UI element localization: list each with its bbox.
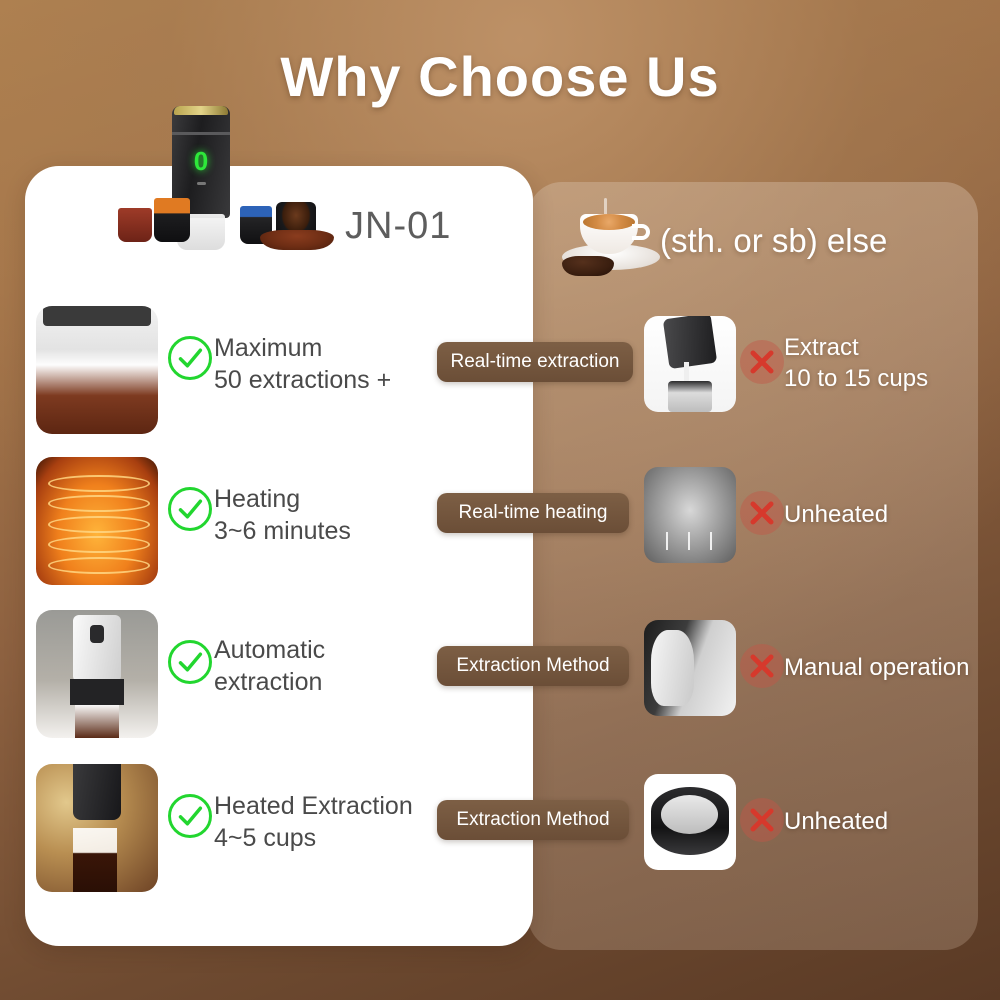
heating-coil (48, 495, 150, 512)
thumb-shape (651, 630, 693, 707)
coffee-glass (75, 705, 119, 738)
filter-basket-image (644, 774, 736, 870)
heating-coil (48, 536, 150, 553)
cup-handle (632, 224, 650, 240)
coffee-extraction-cup-image (36, 306, 158, 434)
heating-coils-image (36, 457, 158, 585)
ground-coffee-pile-icon (260, 230, 334, 250)
left-feature-line1: Maximum (214, 334, 322, 362)
basket-inner (661, 795, 718, 833)
comparison-category-pill: Real-time heating (437, 493, 629, 533)
cross-icon (740, 798, 784, 842)
capsule-red-icon (118, 208, 152, 242)
receiving-cup (668, 381, 712, 412)
heating-coil (48, 516, 150, 533)
device-screen (90, 625, 105, 643)
comparison-category-pill: Extraction Method (437, 800, 629, 840)
press-pot (663, 316, 717, 369)
check-icon (168, 336, 212, 380)
right-feature-text: Extract10 to 15 cups (784, 332, 1000, 394)
left-feature-line2: extraction (214, 666, 464, 698)
cross-icon (740, 340, 784, 384)
right-feature-text: Unheated (784, 499, 1000, 530)
heated-extraction-pour-image (36, 764, 158, 892)
comparison-category-pill: Extraction Method (437, 646, 629, 686)
check-icon (168, 794, 212, 838)
hand-pressing-thumb-image (644, 620, 736, 716)
machine-ring (172, 132, 230, 135)
machine-display: 0 (172, 146, 230, 177)
device-collar (70, 679, 124, 705)
right-feature-text: Manual operation (784, 652, 1000, 683)
coffee-beans-icon (562, 256, 614, 276)
cross-icon (740, 491, 784, 535)
heating-coil (48, 557, 150, 574)
infographic-canvas: Why Choose Us 0 JN-01 (sth. or sb) else … (0, 0, 1000, 1000)
latte-cup-icon (556, 198, 666, 278)
check-icon (168, 640, 212, 684)
right-feature-line1: Extract (784, 334, 859, 361)
automatic-machine-brewing-image (36, 610, 158, 738)
left-feature-text: Maximum50 extractions + (214, 332, 464, 396)
comparison-row: Heated Extraction4~5 cupsExtraction Meth… (0, 762, 1000, 912)
left-feature-text: Automaticextraction (214, 634, 464, 698)
right-feature-line1: Unheated (784, 808, 888, 835)
right-feature-line2: 10 to 15 cups (784, 365, 928, 392)
comparison-row: Maximum50 extractions +Real-time extract… (0, 304, 1000, 454)
pour-stream (684, 362, 689, 383)
cross-icon (740, 644, 784, 688)
cup-lid (43, 306, 150, 326)
left-feature-text: Heating3~6 minutes (214, 483, 464, 547)
heating-coil (48, 475, 150, 492)
flow-arrow (710, 532, 712, 549)
brew-head (73, 764, 122, 820)
cold-brew-container-image (644, 467, 736, 563)
check-icon (168, 487, 212, 531)
machine-led (197, 182, 206, 185)
left-feature-text: Heated Extraction4~5 cups (214, 790, 464, 854)
crema (583, 214, 635, 230)
left-feature-line1: Heated Extraction (214, 792, 413, 820)
left-feature-line1: Automatic (214, 636, 325, 664)
left-feature-line2: 3~6 minutes (214, 517, 351, 545)
capsule-orange-icon (154, 198, 190, 242)
left-feature-line2: 4~5 cups (214, 824, 316, 852)
product-name: JN-01 (345, 205, 451, 248)
right-feature-text: Unheated (784, 806, 1000, 837)
right-feature-line1: Manual operation (784, 654, 969, 681)
comparison-category-pill: Real-time extraction (437, 342, 633, 382)
portable-espresso-machine-icon: 0 (110, 100, 345, 280)
coffee-glass (73, 828, 117, 892)
comparison-row: Heating3~6 minutesReal-time heatingUnhea… (0, 455, 1000, 605)
comparison-row: AutomaticextractionExtraction MethodManu… (0, 608, 1000, 758)
competitor-label: (sth. or sb) else (660, 222, 887, 260)
left-feature-line1: Heating (214, 485, 300, 513)
machine-cap (174, 106, 228, 115)
flow-arrow (666, 532, 668, 549)
left-feature-line2: 50 extractions + (214, 366, 391, 394)
french-press-pouring-image (644, 316, 736, 412)
right-feature-line1: Unheated (784, 501, 888, 528)
flow-arrow (688, 532, 690, 549)
